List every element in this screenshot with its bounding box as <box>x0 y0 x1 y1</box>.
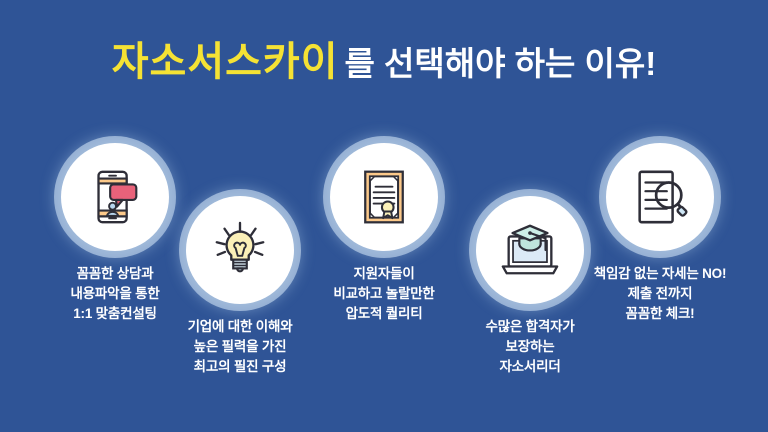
laptop-graduation-cap-icon <box>498 218 562 282</box>
certificate-icon <box>354 167 414 227</box>
caption-line: 자소서리더 <box>440 357 620 377</box>
feature-caption: 수많은 합격자가 보장하는 자소서리더 <box>440 317 620 377</box>
caption-line: 꼼꼼한 체크! <box>570 304 750 324</box>
lightbulb-icon <box>209 219 271 281</box>
title-rest: 를 선택해야 하는 이유! <box>345 45 657 82</box>
feature-caption: 기업에 대한 이해와 높은 필력을 가진 최고의 필진 구성 <box>150 317 330 377</box>
title-brand: 자소서스카이 <box>112 40 339 84</box>
feature-icon-circle <box>476 196 584 304</box>
caption-line: 책임감 없는 자세는 NO! <box>570 264 750 284</box>
caption-line: 제출 전까지 <box>570 284 750 304</box>
caption-line: 보장하는 <box>440 337 620 357</box>
promo-poster: 자소서스카이를 선택해야 하는 이유! 꼼꼼한 상담과 내용파악 <box>0 0 768 432</box>
smartphone-chat-icon <box>84 166 146 228</box>
feature-item-check: 책임감 없는 자세는 NO! 제출 전까지 꼼꼼한 체크! <box>570 143 750 324</box>
feature-icon-circle <box>606 143 714 251</box>
caption-line: 높은 필력을 가진 <box>150 337 330 357</box>
feature-icon-circle <box>330 143 438 251</box>
document-magnifier-icon <box>629 166 691 228</box>
page-title: 자소서스카이를 선택해야 하는 이유! <box>0 42 768 82</box>
feature-caption: 책임감 없는 자세는 NO! 제출 전까지 꼼꼼한 체크! <box>570 264 750 324</box>
feature-icon-circle <box>186 196 294 304</box>
caption-line: 최고의 필진 구성 <box>150 357 330 377</box>
